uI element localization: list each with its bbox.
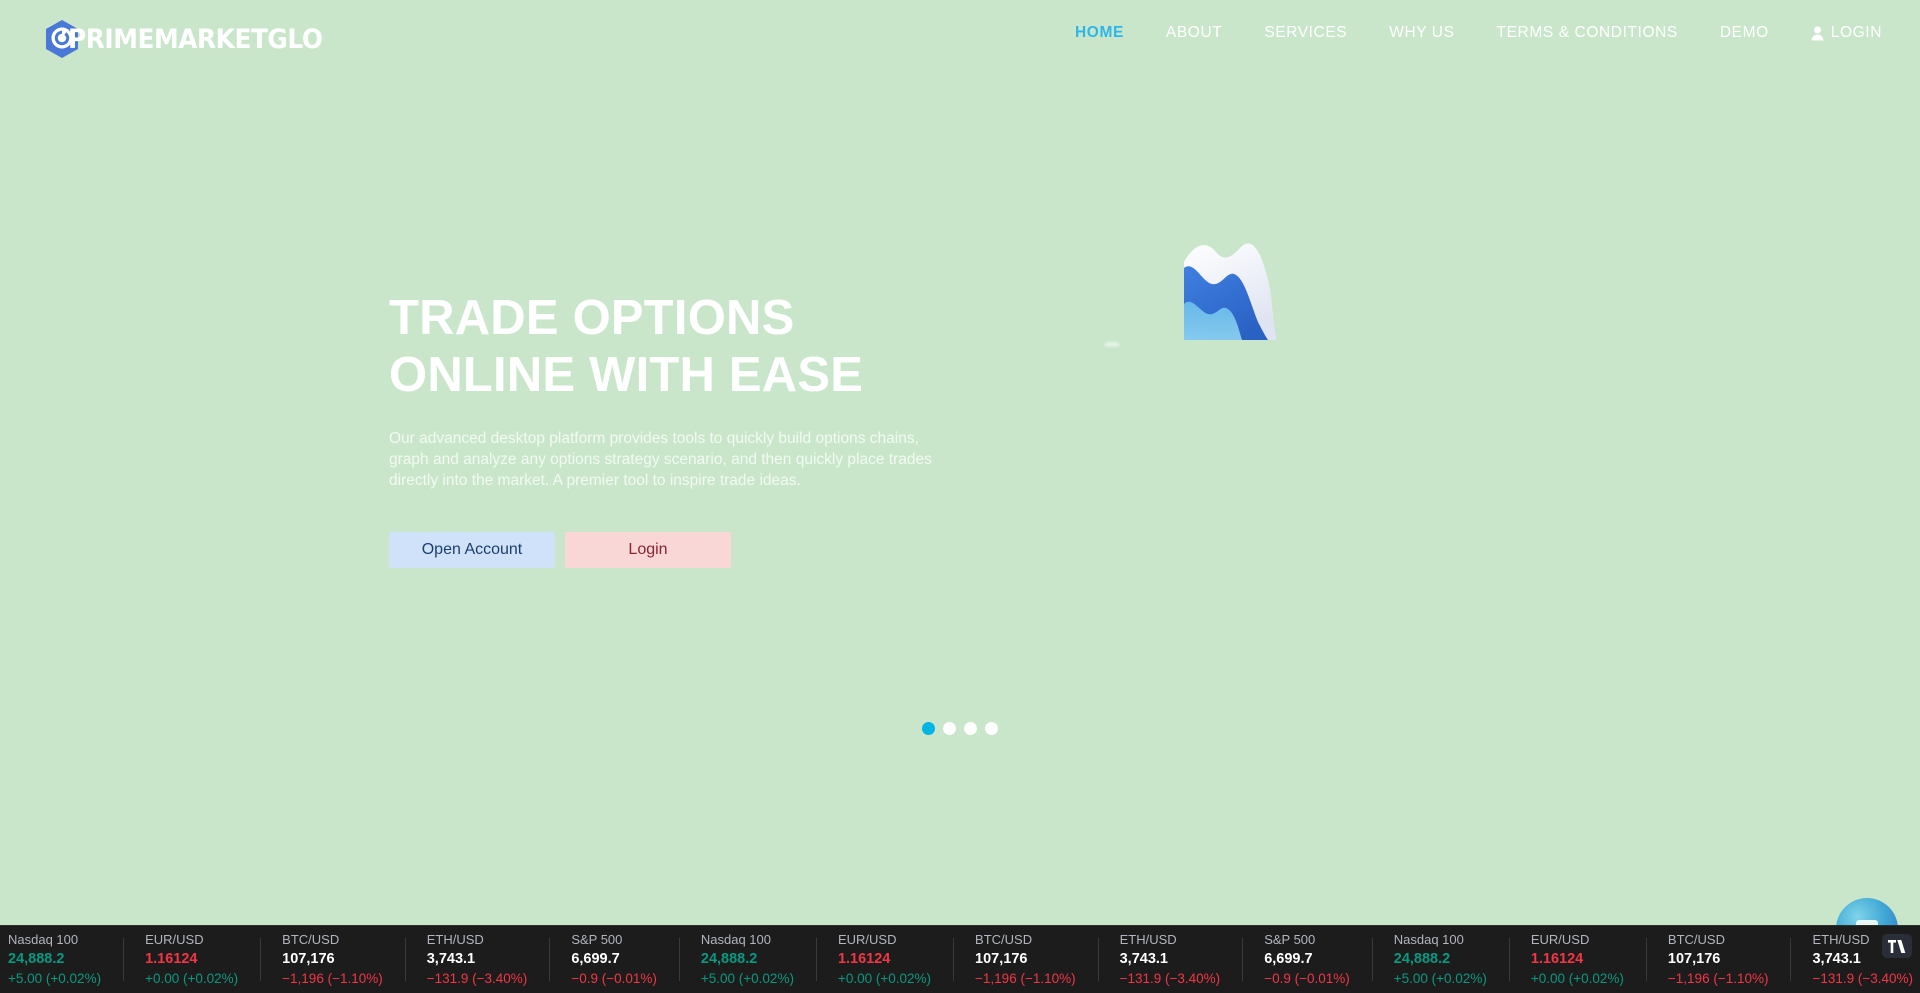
ticker-change: −131.9 (−3.40%)	[1120, 970, 1221, 988]
main-navigation: HOME ABOUT SERVICES WHY US TERMS & CONDI…	[1054, 22, 1882, 44]
brand-logo[interactable]: PRIMEMARKETGLO	[44, 16, 345, 62]
ticker-change: +5.00 (+0.02%)	[8, 970, 101, 988]
nav-item-about[interactable]: ABOUT	[1145, 22, 1243, 44]
ticker-item[interactable]: Nasdaq 10024,888.2+5.00 (+0.02%)	[679, 926, 816, 993]
ticker-price: 3,743.1	[427, 950, 528, 969]
nav-login-label: LOGIN	[1831, 22, 1882, 44]
ticker-price: 107,176	[975, 950, 1076, 969]
area-chart-illustration	[1168, 238, 1308, 350]
ticker-item[interactable]: BTC/USD107,176−1,196 (−1.10%)	[260, 926, 405, 993]
ticker-symbol: EUR/USD	[145, 931, 238, 949]
tradingview-logo[interactable]	[1882, 934, 1912, 958]
ticker-change: +0.00 (+0.02%)	[838, 970, 931, 988]
carousel-dot-4[interactable]	[985, 722, 998, 735]
nav-item-terms-and-conditions[interactable]: TERMS & CONDITIONS	[1476, 22, 1699, 44]
ticker-change: +5.00 (+0.02%)	[1394, 970, 1487, 988]
ticker-symbol: BTC/USD	[1668, 931, 1769, 949]
ticker-symbol: ETH/USD	[427, 931, 528, 949]
ticker-price: 24,888.2	[8, 950, 101, 969]
ticker-change: +0.00 (+0.02%)	[145, 970, 238, 988]
brand-name: PRIMEMARKETGLO	[68, 26, 323, 53]
ticker-price: 1.16124	[145, 950, 238, 969]
ticker-price: 24,888.2	[1394, 950, 1487, 969]
ticker-change: −131.9 (−3.40%)	[427, 970, 528, 988]
nav-item-login[interactable]: LOGIN	[1790, 22, 1882, 44]
page-title: TRADE OPTIONS ONLINE WITH EASE	[389, 290, 969, 404]
ticker-symbol: S&P 500	[1264, 931, 1350, 949]
ticker-change: −0.9 (−0.01%)	[571, 970, 657, 988]
ticker-change: −1,196 (−1.10%)	[282, 970, 383, 988]
decorative-smudge	[1104, 342, 1120, 347]
ticker-price: 107,176	[282, 950, 383, 969]
ticker-change: −1,196 (−1.10%)	[1668, 970, 1769, 988]
ticker-item[interactable]: S&P 5006,699.7−0.9 (−0.01%)	[1242, 926, 1372, 993]
ticker-price: 6,699.7	[1264, 950, 1350, 969]
hero-subtitle: Our advanced desktop platform provides t…	[389, 428, 949, 491]
ticker-change: −1,196 (−1.10%)	[975, 970, 1076, 988]
ticker-symbol: EUR/USD	[1531, 931, 1624, 949]
hero-actions: Open Account Login	[389, 532, 969, 568]
ticker-symbol: Nasdaq 100	[701, 931, 794, 949]
site-header: PRIMEMARKETGLO HOME ABOUT SERVICES WHY U…	[0, 0, 1920, 78]
ticker-symbol: EUR/USD	[838, 931, 931, 949]
ticker-item[interactable]: EUR/USD1.16124+0.00 (+0.02%)	[123, 926, 260, 993]
ticker-change: −131.9 (−3.40%)	[1812, 970, 1913, 988]
nav-item-demo[interactable]: DEMO	[1699, 22, 1790, 44]
carousel-dot-1[interactable]	[922, 722, 935, 735]
nav-item-why-us[interactable]: WHY US	[1368, 22, 1475, 44]
ticker-symbol: BTC/USD	[282, 931, 383, 949]
ticker-price: 6,699.7	[571, 950, 657, 969]
ticker-price: 24,888.2	[701, 950, 794, 969]
ticker-item[interactable]: Nasdaq 10024,888.2+5.00 (+0.02%)	[0, 926, 123, 993]
ticker-item[interactable]: ETH/USD3,743.1−131.9 (−3.40%)	[1098, 926, 1243, 993]
ticker-symbol: S&P 500	[571, 931, 657, 949]
ticker-strip: Nasdaq 10024,888.2+5.00 (+0.02%)EUR/USD1…	[0, 926, 1920, 993]
carousel-dot-3[interactable]	[964, 722, 977, 735]
ticker-change: +0.00 (+0.02%)	[1531, 970, 1624, 988]
ticker-price: 3,743.1	[1120, 950, 1221, 969]
ticker-item[interactable]: S&P 5006,699.7−0.9 (−0.01%)	[549, 926, 679, 993]
ticker-change: +5.00 (+0.02%)	[701, 970, 794, 988]
ticker-item[interactable]: Nasdaq 10024,888.2+5.00 (+0.02%)	[1372, 926, 1509, 993]
nav-item-home[interactable]: HOME	[1054, 22, 1145, 44]
ticker-price: 1.16124	[838, 950, 931, 969]
user-icon	[1811, 26, 1824, 41]
nav-item-services[interactable]: SERVICES	[1243, 22, 1368, 44]
ticker-item[interactable]: EUR/USD1.16124+0.00 (+0.02%)	[1509, 926, 1646, 993]
ticker-item[interactable]: BTC/USD107,176−1,196 (−1.10%)	[953, 926, 1098, 993]
carousel-dots[interactable]	[0, 722, 1920, 735]
ticker-symbol: BTC/USD	[975, 931, 1076, 949]
hero-section: TRADE OPTIONS ONLINE WITH EASE Our advan…	[0, 0, 1920, 925]
ticker-item[interactable]: BTC/USD107,176−1,196 (−1.10%)	[1646, 926, 1791, 993]
ticker-change: −0.9 (−0.01%)	[1264, 970, 1350, 988]
ticker-symbol: Nasdaq 100	[1394, 931, 1487, 949]
ticker-symbol: Nasdaq 100	[8, 931, 101, 949]
carousel-dot-2[interactable]	[943, 722, 956, 735]
hero-copy: TRADE OPTIONS ONLINE WITH EASE Our advan…	[389, 290, 969, 568]
ticker-symbol: ETH/USD	[1120, 931, 1221, 949]
open-account-button[interactable]: Open Account	[389, 532, 555, 568]
ticker-price: 1.16124	[1531, 950, 1624, 969]
ticker-price: 107,176	[1668, 950, 1769, 969]
ticker-item[interactable]: EUR/USD1.16124+0.00 (+0.02%)	[816, 926, 953, 993]
ticker-tape[interactable]: Nasdaq 10024,888.2+5.00 (+0.02%)EUR/USD1…	[0, 925, 1920, 993]
ticker-item[interactable]: ETH/USD3,743.1−131.9 (−3.40%)	[405, 926, 550, 993]
login-button[interactable]: Login	[565, 532, 731, 568]
